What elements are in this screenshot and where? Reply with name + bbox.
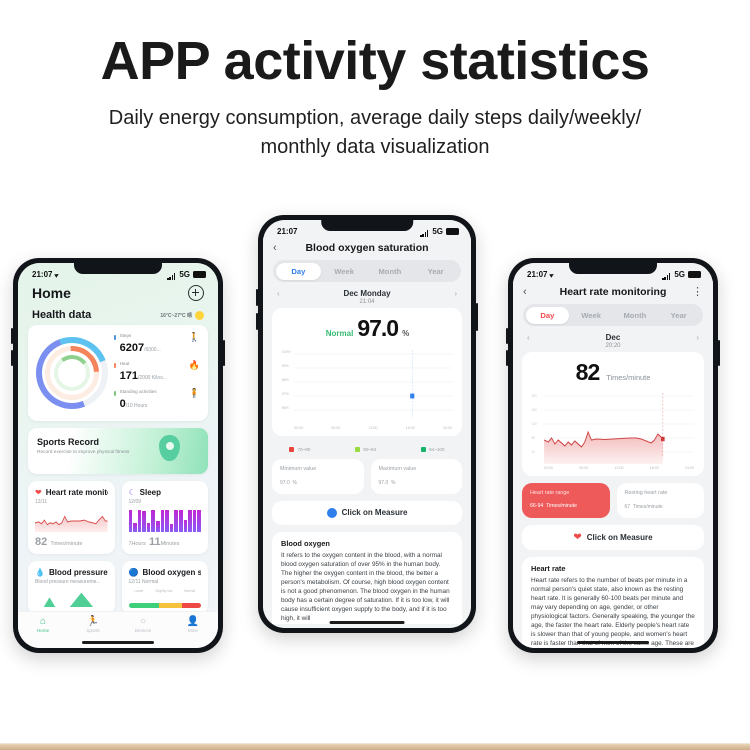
maximum-value: 97.0	[379, 480, 389, 486]
volume-down-button[interactable]	[256, 313, 258, 330]
person-icon: 👤	[168, 616, 218, 627]
heart-rate-mini-date: 12/11	[35, 499, 108, 505]
ox-x-2: 12:00	[369, 426, 378, 430]
ox-x-3: 18:00	[406, 426, 415, 430]
home-title: Home	[32, 285, 71, 301]
svg-text:96%: 96%	[282, 406, 290, 410]
heart-icon: ❤	[35, 488, 42, 497]
navbar-title: Heart rate monitoring	[537, 286, 689, 298]
date-selector: ‹ Dec ›	[513, 326, 713, 343]
sports-record-title: Sports Record	[28, 428, 208, 447]
segment-week[interactable]: Week	[321, 263, 367, 280]
activity-rings	[36, 337, 108, 409]
steps-label: Steps	[120, 333, 187, 338]
blood-oxygen-ticks: Lower Slightly low Normal	[129, 589, 202, 593]
more-menu-icon[interactable]: ⋮	[689, 285, 703, 298]
blood-oxygen-chart: 100%99%98% 97%96%	[280, 346, 454, 424]
svg-text:97%: 97%	[282, 392, 290, 396]
segment-day[interactable]: Day	[526, 307, 570, 324]
heart-rate-unit: Times/minute	[606, 373, 650, 382]
ox-x-1: 06:00	[331, 426, 340, 430]
blood-oxygen-value: 97.0	[357, 315, 398, 342]
back-icon[interactable]: ‹	[523, 286, 537, 298]
heart-rate-range-value: 66-94	[530, 503, 543, 509]
minmax-row: Minimum value 97.0 % Maximum value 97.0 …	[272, 459, 462, 494]
legend-label-low: 70~90	[297, 447, 310, 452]
status-network: 5G	[432, 227, 443, 236]
tab-mine-label: Mine	[168, 628, 218, 633]
legend-swatch-low	[289, 447, 294, 452]
svg-text:100%: 100%	[282, 350, 291, 354]
blood-oxygen-xaxis: 00:00 06:00 12:00 18:00 24:00	[280, 424, 454, 430]
blood-oxygen-mini-title: Blood oxygen saturation	[142, 568, 201, 577]
steps-value: 6207	[120, 342, 144, 354]
ox-tick-2: Slightly low	[155, 589, 172, 593]
add-device-icon[interactable]	[188, 285, 204, 301]
home-indicator	[577, 641, 649, 644]
next-date-icon[interactable]: ›	[454, 289, 457, 298]
heart-rate-mini-card[interactable]: ❤ Heart rate monitoring 12/11	[28, 481, 115, 554]
status-network: 5G	[674, 270, 685, 279]
heart-rate-stats-row: Heart rate range 66-94 Times/minute Rest…	[522, 483, 704, 518]
tab-devices-label: Devices	[118, 628, 168, 633]
health-summary-card[interactable]: Steps 6207/6000... 🚶 Heat 171/2000 Kilos…	[28, 325, 208, 421]
ox-x-4: 24:00	[443, 426, 452, 430]
sleep-minutes-unit: Minutes	[161, 541, 180, 547]
article-text: Heart rate refers to the number of beats…	[531, 576, 695, 648]
health-data-header: Health data 16°C~27°C 晴	[18, 303, 218, 325]
phone-home: 21:07 5G Home Healt	[13, 258, 223, 653]
notch	[321, 220, 413, 231]
resting-heart-rate-value: 67	[625, 504, 631, 510]
maximum-label: Maximum value	[379, 466, 455, 473]
volume-down-button[interactable]	[11, 350, 13, 366]
tab-sports-label: Sports	[68, 628, 118, 633]
heart-rate-range-unit: Times/minute	[546, 503, 577, 509]
tab-sports[interactable]: 🏃 Sports	[68, 616, 118, 633]
standing-label: Standing activities	[120, 389, 187, 394]
steps-unit: /6000...	[144, 347, 161, 353]
location-arrow-icon	[550, 272, 556, 278]
blood-pressure-mini-title: Blood pressure monitoring	[49, 568, 108, 577]
legend-swatch-mid	[355, 447, 360, 452]
reading-time: 20:20	[513, 343, 713, 352]
page-subtitle-line1: Daily energy consumption, average daily …	[0, 104, 750, 133]
home-indicator	[82, 641, 154, 644]
health-row-steps[interactable]: Steps 6207/6000... 🚶	[114, 333, 200, 356]
ox-tick-3: Normal	[184, 589, 195, 593]
heart-rate-mini-title: Heart rate monitoring	[46, 488, 108, 497]
blood-oxygen-legend: 70~90 90~94 94~100	[263, 443, 471, 452]
heart-rate-value: 82	[576, 359, 600, 386]
legend-item-high: 94~100	[421, 447, 444, 452]
volume-up-button[interactable]	[506, 328, 508, 344]
signal-icon	[662, 271, 671, 278]
heart-rate-sparkline	[35, 510, 108, 532]
blood-pressure-mini-sub: Blood pressure measureme...	[35, 579, 108, 585]
back-icon[interactable]: ‹	[273, 242, 287, 254]
heart-rate-article: Heart rate Heart rate refers to the numb…	[522, 557, 704, 648]
phone-heart-rate: 21:07 5G ‹ Heart rate monitoring ⋮	[508, 258, 718, 653]
hr-x-1: 06:00	[579, 466, 588, 470]
sleep-minutes-value: 11	[149, 536, 161, 548]
blood-oxygen-unit: %	[402, 329, 408, 338]
maximum-unit: %	[391, 480, 395, 486]
sleep-mini-date: 12/09	[129, 499, 202, 505]
svg-text:80: 80	[532, 436, 535, 440]
status-time: 21:07	[527, 270, 547, 279]
minimum-value-card: Minimum value 97.0 %	[272, 459, 364, 494]
status-time: 21:07	[277, 227, 297, 236]
volume-down-button[interactable]	[506, 350, 508, 366]
location-arrow-icon	[55, 272, 61, 278]
home-icon: ⌂	[18, 616, 68, 627]
blood-oxygen-article: Blood oxygen It refers to the oxygen con…	[272, 532, 462, 624]
volume-up-button[interactable]	[256, 289, 258, 306]
standing-icon: 🧍	[189, 389, 200, 398]
minimum-value: 97.0	[280, 480, 290, 486]
heat-unit: /2000 Kilos...	[138, 375, 167, 381]
svg-text:99%: 99%	[282, 364, 290, 368]
weather-info: 16°C~27°C 晴	[160, 311, 204, 320]
segment-year[interactable]: Year	[413, 263, 459, 280]
sun-icon	[195, 311, 204, 320]
ox-tick-1: Lower	[134, 589, 143, 593]
notch	[74, 263, 162, 274]
power-button[interactable]	[476, 303, 478, 331]
volume-up-button[interactable]	[11, 328, 13, 344]
phone-blood-oxygen: 21:07 5G ‹ Blood oxygen saturation	[258, 215, 476, 633]
date-label: Dec	[606, 333, 621, 342]
resting-heart-rate-label: Resting heart rate	[625, 490, 697, 497]
oxygen-measure-icon	[327, 508, 337, 518]
hr-x-4: 24:00	[685, 466, 694, 470]
measure-button-label: Click on Measure	[587, 533, 653, 542]
health-row-heat[interactable]: Heat 171/2000 Kilos... 🔥	[114, 361, 200, 384]
mini-card-row-2: 💧 Blood pressure monitoring Blood pressu…	[28, 561, 208, 614]
measure-button[interactable]: Click on Measure	[272, 501, 462, 525]
heart-rate-chart: 200160120 8040	[530, 390, 696, 464]
sleep-hours-unit: Hours	[132, 541, 146, 547]
standing-unit: /10 Hours	[126, 403, 148, 409]
circle-icon: 🔵	[129, 568, 139, 577]
signal-icon	[167, 271, 176, 278]
sports-icon: 🏃	[68, 616, 118, 627]
page-subtitle: Daily energy consumption, average daily …	[0, 104, 750, 162]
page-subtitle-line2: monthly data visualization	[0, 133, 750, 162]
tab-home[interactable]: ⌂ Home	[18, 616, 68, 633]
resting-heart-rate-unit: Times/minute	[633, 504, 663, 510]
sleep-mini-title: Sleep	[140, 488, 161, 497]
tab-devices[interactable]: ○ Devices	[118, 616, 168, 633]
legend-label-high: 94~100	[429, 447, 444, 452]
sports-record-subtitle: Record exercise to improve physical fitn…	[28, 447, 208, 455]
period-segmented-control[interactable]: Day Week Month Year	[523, 304, 703, 326]
battery-icon	[446, 228, 459, 235]
health-row-standing[interactable]: Standing activities 0/10 Hours 🧍	[114, 389, 200, 412]
battery-icon	[688, 271, 701, 278]
legend-swatch-high	[421, 447, 426, 452]
walk-icon: 🚶	[189, 333, 200, 342]
date-selector: ‹ Dec Monday ›	[263, 282, 471, 299]
article-title: Blood oxygen	[281, 539, 453, 548]
measure-button[interactable]: ❤ Click on Measure	[522, 525, 704, 550]
notch	[569, 263, 657, 274]
maximum-value-card: Maximum value 97.0 %	[371, 459, 463, 494]
status-badge: Normal	[326, 329, 354, 338]
next-date-icon[interactable]: ›	[696, 333, 699, 342]
article-text: It refers to the oxygen content in the b…	[281, 551, 453, 624]
status-network: 5G	[179, 270, 190, 279]
segment-year[interactable]: Year	[657, 307, 701, 324]
minimum-unit: %	[293, 480, 297, 486]
blood-oxygen-chart-card: Normal 97.0%	[272, 308, 462, 436]
svg-text:120: 120	[532, 422, 537, 426]
home-navbar: Home	[18, 281, 218, 303]
heat-label: Heat	[120, 361, 187, 366]
hr-x-2: 12:00	[615, 466, 624, 470]
svg-text:160: 160	[532, 408, 537, 412]
floor-strip	[0, 744, 750, 750]
legend-item-mid: 90~94	[355, 447, 376, 452]
minimum-label: Minimum value	[280, 466, 356, 473]
legend-label-mid: 90~94	[363, 447, 376, 452]
heat-value: 171	[120, 370, 138, 382]
poster-root: APP activity statistics Daily energy con…	[0, 0, 750, 750]
measure-button-label: Click on Measure	[342, 508, 408, 517]
hr-x-3: 18:00	[650, 466, 659, 470]
blood-oxygen-mini-card[interactable]: 🔵 Blood oxygen saturation 12/11 Normal L…	[122, 561, 209, 614]
heart-rate-range-label: Heart rate range	[530, 490, 602, 496]
map-pin-icon	[159, 435, 180, 461]
heart-rate-mini-unit: Times/minute	[50, 541, 82, 547]
resting-heart-rate-card: Resting heart rate 67 Times/minute	[617, 483, 705, 518]
sleep-mini-card[interactable]: ☾ Sleep 12/09 7Hours 11Minutes	[122, 481, 209, 554]
battery-icon	[193, 271, 206, 278]
tab-mine[interactable]: 👤 Mine	[168, 616, 218, 633]
heart-measure-icon: ❤	[573, 532, 581, 543]
moon-icon: ☾	[129, 488, 136, 497]
mini-card-row-1: ❤ Heart rate monitoring 12/11	[28, 481, 208, 554]
segment-month[interactable]: Month	[367, 263, 413, 280]
tab-home-label: Home	[18, 628, 68, 633]
segment-month[interactable]: Month	[613, 307, 657, 324]
navbar-title: Blood oxygen saturation	[287, 242, 447, 254]
heart-rate-chart-card: 82 Times/minute	[522, 352, 704, 476]
devices-icon: ○	[118, 616, 168, 627]
power-button[interactable]	[718, 340, 720, 366]
prev-date-icon[interactable]: ‹	[277, 289, 280, 298]
power-button[interactable]	[223, 340, 225, 366]
status-time: 21:07	[32, 270, 52, 279]
navbar: ‹ Heart rate monitoring ⋮	[513, 281, 713, 304]
date-label: Dec Monday	[343, 289, 390, 298]
droplet-icon: 💧	[35, 568, 45, 577]
signal-icon	[420, 228, 429, 235]
health-data-title: Health data	[32, 309, 91, 321]
svg-text:200: 200	[532, 394, 537, 398]
svg-text:40: 40	[532, 450, 535, 454]
prev-date-icon[interactable]: ‹	[527, 333, 530, 342]
poster-header: APP activity statistics Daily energy con…	[0, 0, 750, 162]
sports-record-card[interactable]: Sports Record Record exercise to improve…	[28, 428, 208, 474]
heart-rate-mini-value: 82	[35, 536, 47, 548]
legend-item-low: 70~90	[289, 447, 310, 452]
flame-icon: 🔥	[189, 361, 200, 370]
weather-temp: 16°C~27°C 晴	[160, 312, 192, 319]
article-title: Heart rate	[531, 564, 695, 573]
sleep-bar-chart	[129, 510, 202, 532]
heart-rate-xaxis: 00:00 06:00 12:00 18:00 24:00	[530, 464, 696, 470]
hr-x-0: 00:00	[544, 466, 553, 470]
reading-time: 21:04	[263, 299, 471, 308]
segment-week[interactable]: Week	[569, 307, 613, 324]
home-indicator	[330, 621, 405, 624]
period-segmented-control[interactable]: Day Week Month Year	[273, 260, 461, 282]
blood-oxygen-gauge	[129, 603, 202, 608]
blood-pressure-mini-card[interactable]: 💧 Blood pressure monitoring Blood pressu…	[28, 561, 115, 614]
svg-text:98%: 98%	[282, 378, 290, 382]
ox-x-0: 00:00	[294, 426, 303, 430]
blood-pressure-wave	[35, 591, 108, 607]
blood-oxygen-mini-sub: 12/11 Normal	[129, 579, 202, 585]
navbar: ‹ Blood oxygen saturation	[263, 238, 471, 260]
segment-day[interactable]: Day	[276, 263, 322, 280]
heart-rate-range-card: Heart rate range 66-94 Times/minute	[522, 483, 610, 518]
page-title: APP activity statistics	[0, 34, 750, 88]
